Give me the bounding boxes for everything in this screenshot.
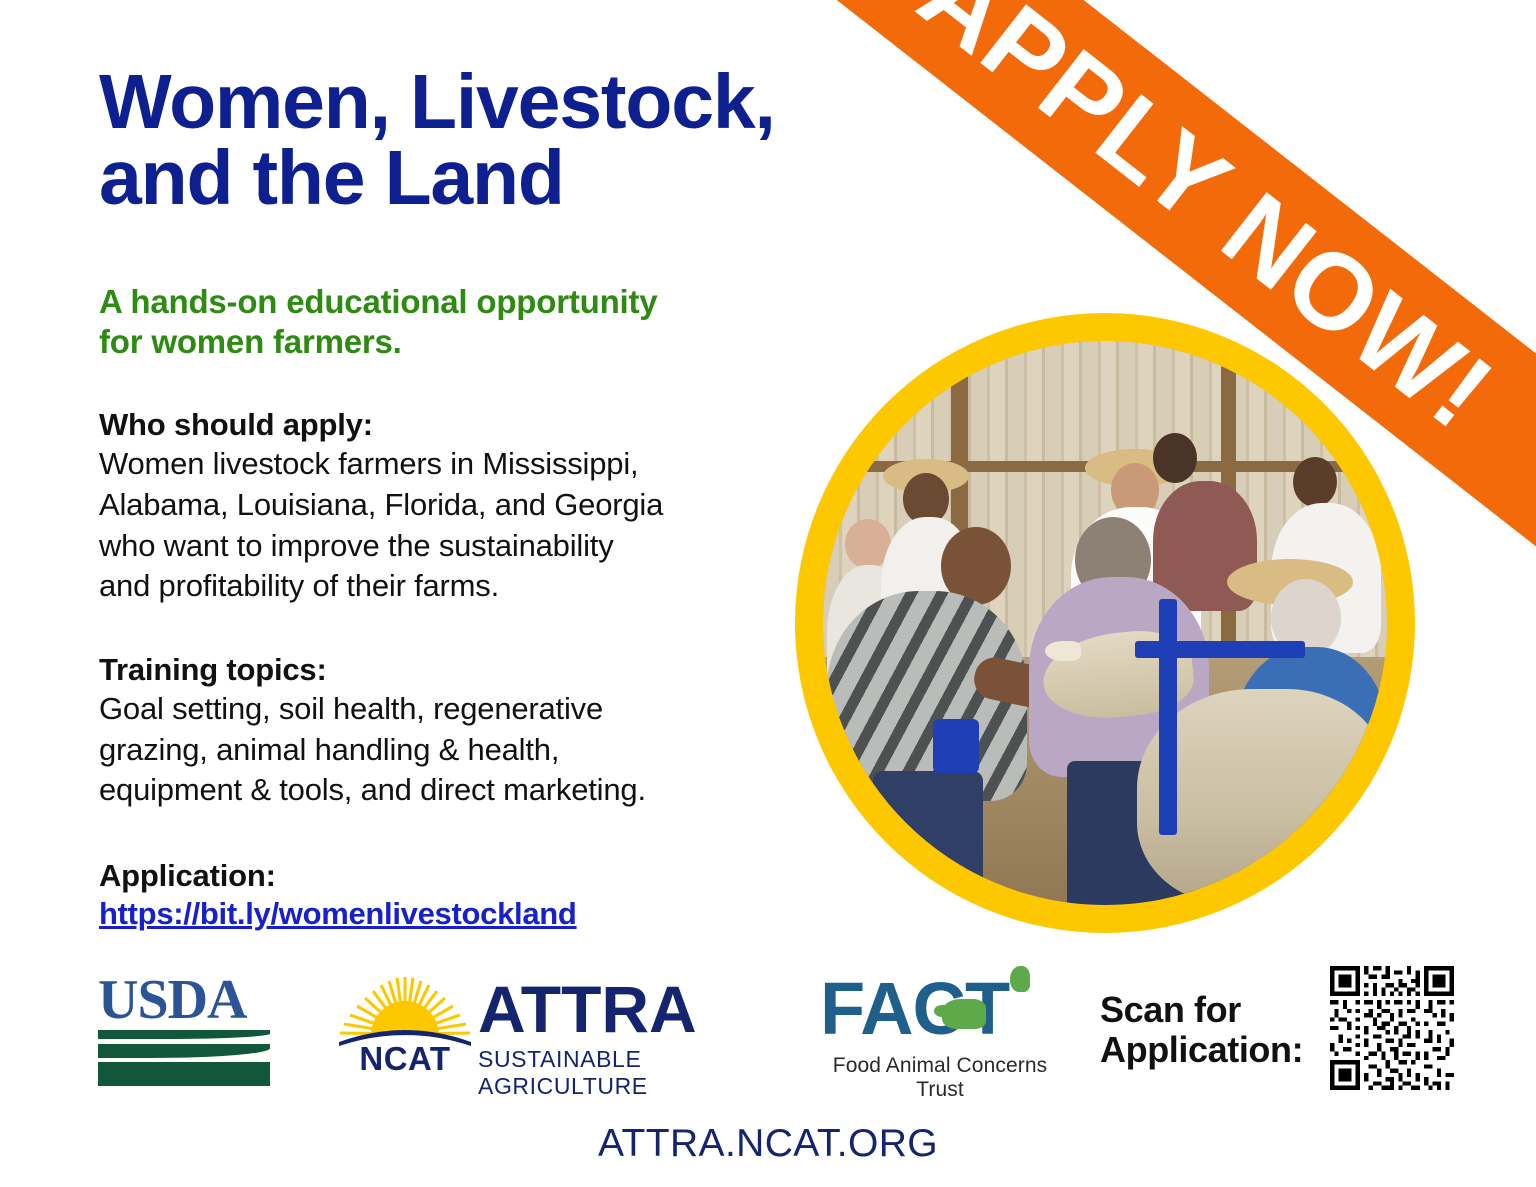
ncat-logo: NCAT xyxy=(335,974,475,1084)
person-head xyxy=(1153,433,1197,483)
content-column: Women, Livestock, and the Land A hands-o… xyxy=(99,64,799,934)
ncat-sunburst-icon xyxy=(335,974,475,1046)
training-topics-heading: Training topics: xyxy=(99,651,799,688)
fact-tagline: Food Animal Concerns Trust xyxy=(820,1054,1060,1102)
chicken-icon xyxy=(1010,966,1030,992)
who-should-apply-body: Women livestock farmers in Mississippi, … xyxy=(99,444,799,606)
clipboard xyxy=(933,719,979,773)
application-section: Application: https://bit.ly/womenlivesto… xyxy=(99,857,799,934)
application-link[interactable]: https://bit.ly/womenlivestockland xyxy=(99,896,577,931)
ncat-wordmark: NCAT xyxy=(335,1042,475,1075)
person-head xyxy=(1293,457,1337,507)
usda-logo: USDA xyxy=(98,972,273,1084)
attra-logo: ATTRA SUSTAINABLE AGRICULTURE xyxy=(478,978,750,1084)
training-topics-section: Training topics: Goal setting, soil heal… xyxy=(99,651,799,811)
scan-block: Scan for Application: xyxy=(1100,990,1303,1069)
fact-wordmark-wrap: FACT xyxy=(820,972,1060,1052)
photo-scene xyxy=(823,341,1387,905)
training-topics-body: Goal setting, soil health, regenerative … xyxy=(99,689,799,811)
qr-code[interactable] xyxy=(1330,966,1454,1090)
fact-logo: FACT Food Animal Concerns Trust xyxy=(820,972,1060,1090)
stanchion-rail xyxy=(1135,641,1305,658)
training-photo xyxy=(823,341,1387,905)
page-subtitle: A hands-on educational opportunity for w… xyxy=(99,282,779,362)
usda-wordmark: USDA xyxy=(98,972,273,1028)
poster-canvas: Women, Livestock, and the Land A hands-o… xyxy=(0,0,1536,1187)
person-jeans xyxy=(873,771,983,901)
goat-muzzle xyxy=(1045,641,1081,661)
page-title: Women, Livestock, and the Land xyxy=(99,64,799,216)
stanchion-post xyxy=(1159,599,1177,835)
photo-ring xyxy=(795,313,1415,933)
who-should-apply-section: Who should apply: Women livestock farmer… xyxy=(99,406,799,607)
footer-url[interactable]: ATTRA.NCAT.ORG xyxy=(0,1122,1536,1166)
scan-label: Scan for Application: xyxy=(1100,990,1303,1069)
logo-row: USDA xyxy=(0,960,1536,1120)
attra-wordmark: ATTRA xyxy=(478,978,750,1041)
cow-icon xyxy=(942,999,986,1029)
usda-field-graphic xyxy=(98,1030,270,1086)
attra-tagline: SUSTAINABLE AGRICULTURE xyxy=(478,1046,750,1100)
application-heading: Application: xyxy=(99,857,799,894)
who-should-apply-heading: Who should apply: xyxy=(99,406,799,443)
